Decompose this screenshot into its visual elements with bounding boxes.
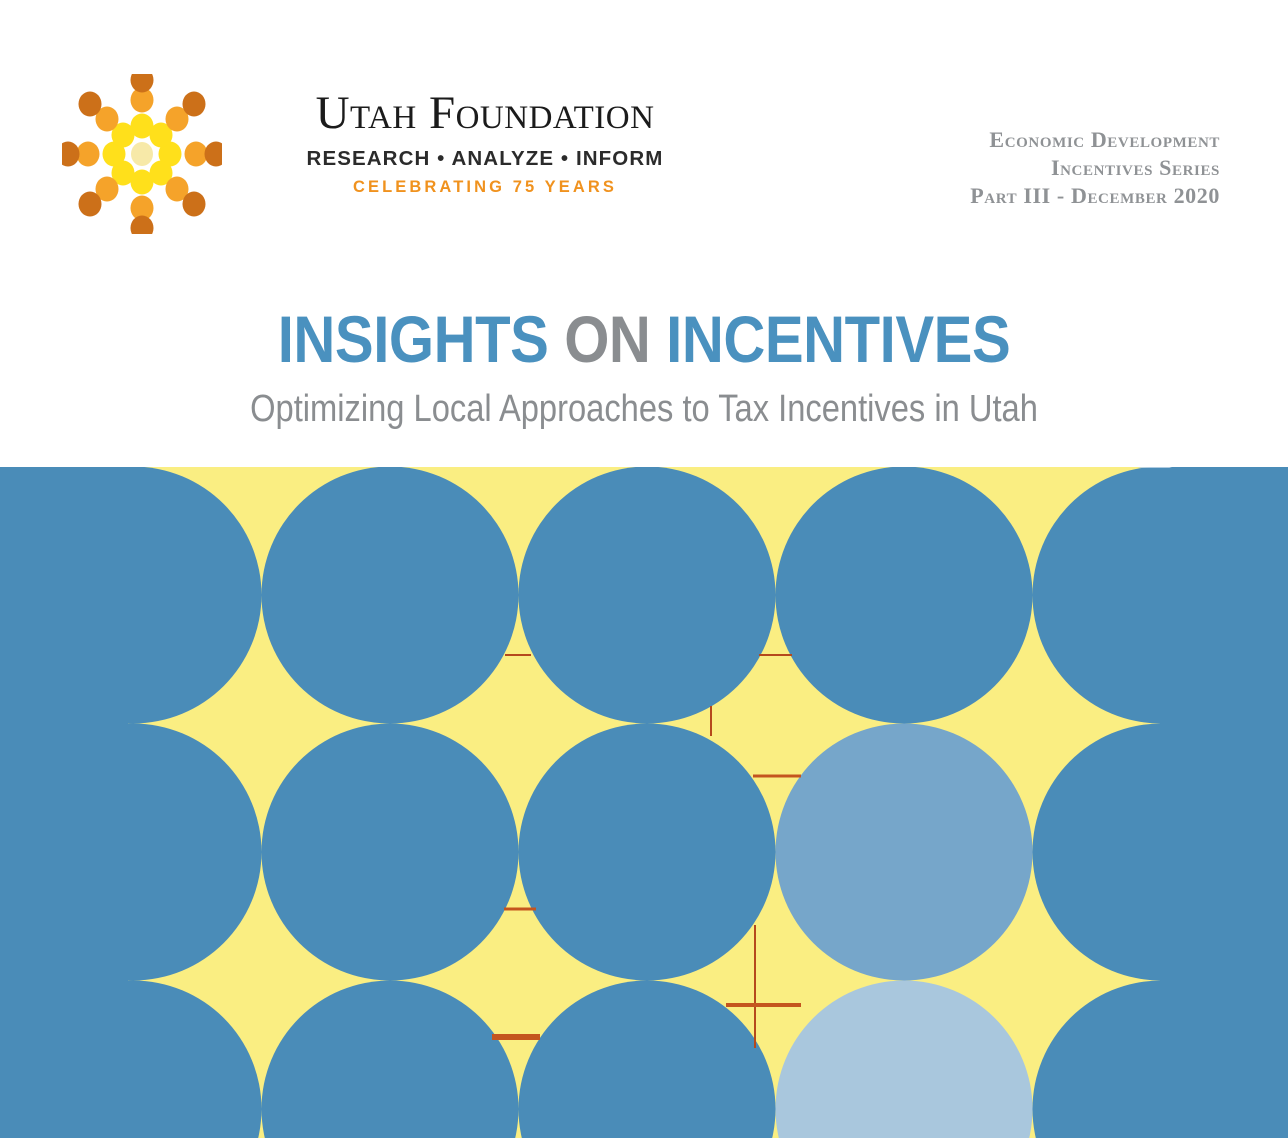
utah-foundation-logo: Utah Foundation RESEARCH • ANALYZE • INF… (62, 74, 702, 234)
circle-star-lattice-graphic (0, 467, 1288, 1138)
title-part-incentives: INCENTIVES (666, 302, 1010, 376)
cover-artwork (0, 467, 1288, 1138)
title-part-on: ON (564, 302, 650, 376)
title-part-insights: INSIGHTS (278, 302, 549, 376)
page-subtitle: Optimizing Local Approaches to Tax Incen… (90, 388, 1198, 431)
series-label: Economic Development Incentives Series P… (970, 126, 1220, 210)
series-label-line-3: Part III - December 2020 (970, 182, 1220, 210)
report-cover-page: Utah Foundation RESEARCH • ANALYZE • INF… (0, 0, 1288, 1138)
artwork-edge-arc (1138, 467, 1172, 468)
logo-wordmark-group: Utah Foundation RESEARCH • ANALYZE • INF… (260, 90, 710, 197)
logo-tagline: RESEARCH • ANALYZE • INFORM (260, 147, 710, 171)
logo-wordmark-text: Utah Foundation (260, 90, 710, 137)
series-label-line-1: Economic Development (970, 126, 1220, 154)
page-title: INSIGHTS ON INCENTIVES (77, 306, 1210, 372)
utah-foundation-sunburst-logo-icon (62, 74, 222, 234)
title-block: INSIGHTS ON INCENTIVES Optimizing Local … (0, 306, 1288, 431)
artwork-tinted-circle-1 (776, 724, 1033, 981)
series-label-line-2: Incentives Series (970, 154, 1220, 182)
logo-anniversary-text: CELEBRATING 75 YEARS (260, 178, 710, 197)
cover-header: Utah Foundation RESEARCH • ANALYZE • INF… (0, 0, 1288, 467)
